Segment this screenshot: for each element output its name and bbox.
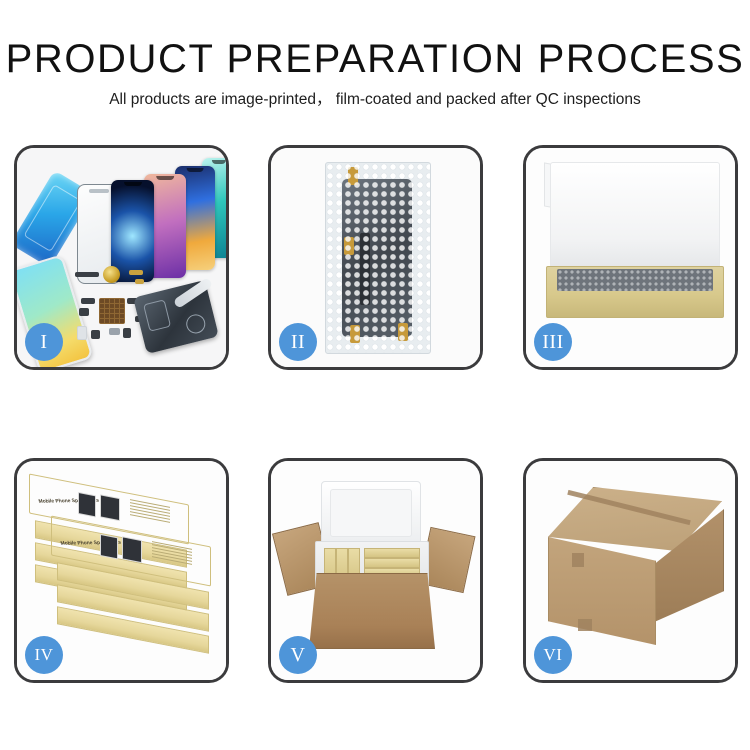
bubble-wrapped-contents — [557, 269, 713, 291]
seal-tape-front — [572, 553, 584, 567]
packed-box — [364, 548, 420, 558]
process-step-grid: I II — [14, 145, 738, 685]
process-step-5: V — [268, 458, 483, 683]
label-screen-image — [78, 492, 96, 517]
page-subtitle: All products are image-printed， film-coa… — [0, 90, 750, 110]
kraft-inner-box — [546, 266, 724, 318]
phone-notch-icon — [123, 182, 141, 186]
label-screen-image — [100, 494, 120, 521]
small-component-part — [79, 308, 89, 316]
label-spec-lines — [152, 541, 192, 567]
speaker-coil-part — [103, 266, 120, 283]
ic-chip-array — [99, 298, 125, 324]
label-screen-image — [122, 536, 142, 563]
camera-module-part — [91, 330, 100, 339]
phone-notch-icon — [212, 160, 226, 164]
white-foam-lining — [550, 162, 720, 272]
step-badge-4: IV — [25, 636, 63, 674]
bubble-wrap-bag — [325, 162, 431, 354]
step-badge-6: VI — [534, 636, 572, 674]
process-step-2: II — [268, 145, 483, 370]
phone-notch-icon — [156, 176, 174, 180]
process-step-4: Mobile Phone Spare Parts Mobile Phone Sp… — [14, 458, 229, 683]
label-spec-lines — [130, 499, 170, 525]
process-step-1: I — [14, 145, 229, 370]
process-step-3: III — [523, 145, 738, 370]
flex-strip-part — [75, 272, 99, 277]
phone-notch-icon — [187, 168, 204, 172]
packed-box — [364, 558, 420, 568]
foam-lid — [321, 481, 421, 545]
sim-tray-part — [77, 326, 87, 340]
metal-bracket-part — [109, 328, 120, 335]
product-preparation-infographic: PRODUCT PREPARATION PROCESS All products… — [0, 0, 750, 750]
connector-part — [123, 328, 131, 338]
flex-cable-part — [81, 298, 95, 304]
export-carton-body — [309, 573, 435, 649]
step-badge-2: II — [279, 323, 317, 361]
gold-connector-part — [135, 279, 144, 284]
bubble-texture-overlay — [326, 163, 430, 353]
header: PRODUCT PREPARATION PROCESS All products… — [0, 36, 750, 110]
step-badge-1: I — [25, 323, 63, 361]
phone-blue-lcd — [111, 180, 154, 282]
page-title: PRODUCT PREPARATION PROCESS — [0, 36, 750, 82]
process-step-6: VI — [523, 458, 738, 683]
gold-connector-part — [129, 270, 143, 275]
seal-tape-front — [578, 619, 592, 631]
step-badge-5: V — [279, 636, 317, 674]
label-screen-image — [100, 534, 118, 559]
step-badge-3: III — [534, 323, 572, 361]
